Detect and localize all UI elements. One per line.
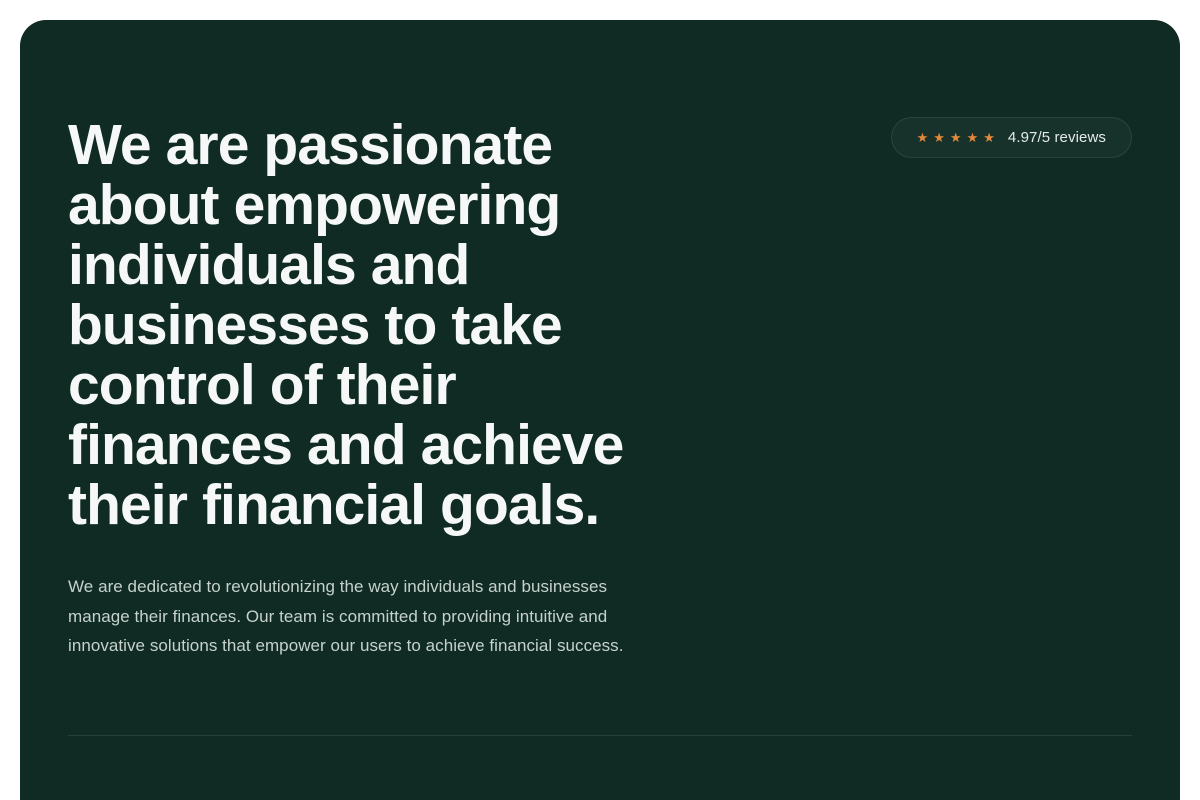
description-line: innovative solutions that empower our us… — [68, 631, 768, 661]
headline-line: their financial goals. — [68, 475, 788, 535]
headline-line: control of their — [68, 355, 788, 415]
hero-content: ★ ★ ★ ★ ★ 4.97/5 reviews We are passiona… — [68, 20, 1132, 800]
hero-card: ★ ★ ★ ★ ★ 4.97/5 reviews We are passiona… — [20, 20, 1180, 800]
description-line: We are dedicated to revolutionizing the … — [68, 572, 768, 602]
headline-line: We are passionate — [68, 115, 788, 175]
star-icon: ★ — [983, 131, 995, 144]
headline-line: about empowering — [68, 175, 788, 235]
star-icon: ★ — [967, 131, 979, 144]
headline-line: finances and achieve — [68, 415, 788, 475]
page: ★ ★ ★ ★ ★ 4.97/5 reviews We are passiona… — [0, 0, 1200, 800]
star-icon: ★ — [917, 131, 929, 144]
rating-label: 4.97/5 reviews — [1008, 130, 1106, 145]
rating-badge[interactable]: ★ ★ ★ ★ ★ 4.97/5 reviews — [891, 117, 1132, 158]
page-title: We are passionate about empowering indiv… — [68, 115, 788, 535]
star-icon: ★ — [933, 131, 945, 144]
section-divider — [68, 735, 1132, 736]
headline-line: businesses to take — [68, 295, 788, 355]
star-rating: ★ ★ ★ ★ ★ — [917, 131, 995, 144]
star-icon: ★ — [950, 131, 962, 144]
description-line: manage their finances. Our team is commi… — [68, 602, 768, 632]
headline-line: individuals and — [68, 235, 788, 295]
hero-description: We are dedicated to revolutionizing the … — [68, 572, 768, 661]
